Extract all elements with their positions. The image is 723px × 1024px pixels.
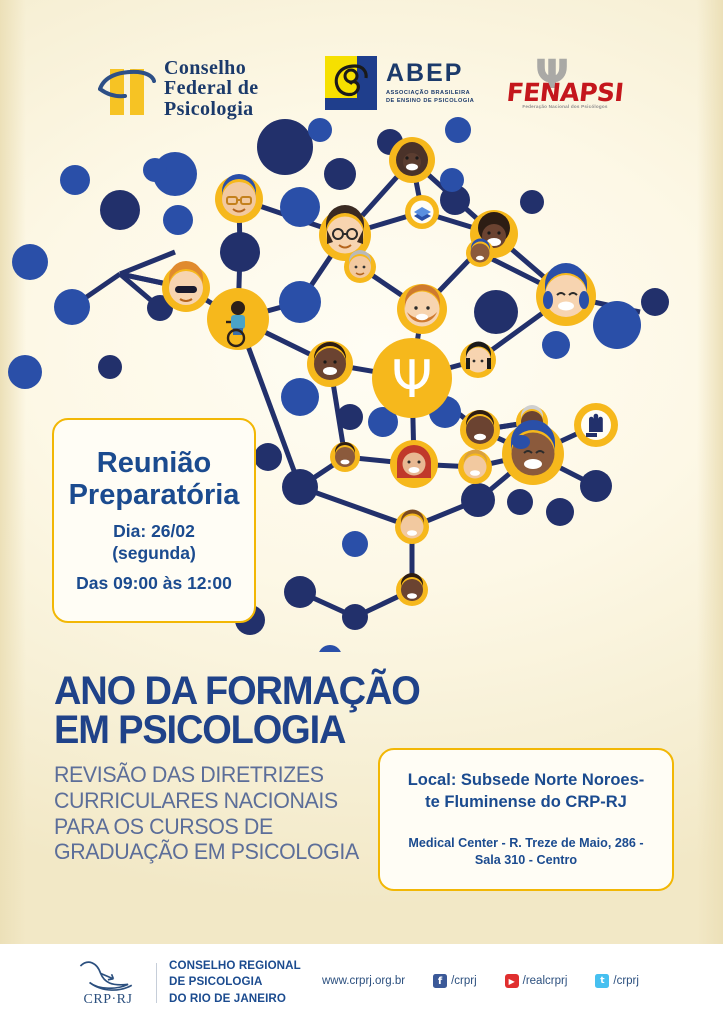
meeting-weekday: (segunda) bbox=[112, 542, 196, 564]
abep-sub-line-2: DE ENSINO DE PSICOLOGIA bbox=[386, 97, 474, 105]
facebook-link[interactable]: f /crprj bbox=[433, 974, 477, 988]
poster-root: Conselho Federal de Psicologia ABEP ASSO… bbox=[0, 0, 723, 1024]
location-address-line-2: Sala 310 - Centro bbox=[475, 852, 577, 869]
location-line-2: te Fluminense do CRP-RJ bbox=[425, 792, 627, 814]
twitter-icon: t bbox=[595, 974, 609, 988]
website-link[interactable]: www.crprj.org.br bbox=[322, 975, 405, 987]
meeting-title-line-2: Preparatória bbox=[69, 479, 240, 511]
crp-rj-logo-icon: CRP·RJ bbox=[68, 959, 146, 1007]
location-info-box: Local: Subsede Norte Noroes- te Fluminen… bbox=[378, 748, 674, 891]
crp-rj-wordmark: CRP·RJ bbox=[72, 992, 144, 1008]
youtube-icon: ▶ bbox=[505, 974, 519, 988]
crp-line-1: CONSELHO REGIONAL bbox=[169, 958, 301, 974]
crp-rj-text: CONSELHO REGIONAL DE PSICOLOGIA DO RIO D… bbox=[169, 958, 301, 1007]
fenapsi-subtitle: Federação Nacional dos Psicólogos bbox=[505, 104, 625, 109]
meeting-date: Dia: 26/02 bbox=[113, 520, 195, 542]
subtitle-line-1: REVISÃO DAS DIRETRIZES bbox=[54, 762, 368, 788]
subtitle-line-3: PARA OS CURSOS DE bbox=[54, 814, 368, 840]
headline-subtitle: REVISÃO DAS DIRETRIZES CURRICULARES NACI… bbox=[54, 762, 384, 865]
twitter-label: /crprj bbox=[613, 975, 639, 987]
youtube-label: /realcrprj bbox=[523, 975, 568, 987]
psi-symbol-label: Ψ bbox=[392, 350, 433, 410]
cfp-swoosh-icon bbox=[98, 69, 156, 99]
abep-sub-line-1: ASSOCIAÇÃO BRASILEIRA bbox=[386, 89, 474, 97]
crp-line-2: DE PSICOLOGIA bbox=[169, 974, 301, 990]
facebook-icon: f bbox=[433, 974, 447, 988]
fenapsi-logo: Ψ FENAPSI Federação Nacional dos Psicólo… bbox=[505, 54, 625, 116]
cfp-line-1: Conselho bbox=[164, 58, 259, 78]
footer-links: www.crprj.org.br f /crprj ▶ /realcrprj t… bbox=[322, 974, 639, 988]
abep-logo-text: ABEP ASSOCIAÇÃO BRASILEIRA DE ENSINO DE … bbox=[386, 61, 474, 106]
crp-rj-logo: CRP·RJ CONSELHO REGIONAL DE PSICOLOGIA D… bbox=[68, 958, 301, 1007]
meeting-time: Das 09:00 às 12:00 bbox=[76, 572, 232, 594]
twitter-link[interactable]: t /crprj bbox=[595, 974, 639, 988]
abep-logo: ABEP ASSOCIAÇÃO BRASILEIRA DE ENSINO DE … bbox=[325, 56, 474, 110]
facebook-label: /crprj bbox=[451, 975, 477, 987]
headline-line-1: ANO DA FORMAÇÃO bbox=[54, 672, 368, 711]
meeting-info-box: Reunião Preparatória Dia: 26/02 (segunda… bbox=[52, 418, 256, 623]
cfp-logo-icon bbox=[100, 63, 154, 115]
youtube-link[interactable]: ▶ /realcrprj bbox=[505, 974, 568, 988]
crp-line-3: DO RIO DE JANEIRO bbox=[169, 991, 301, 1007]
location-line-1: Local: Subsede Norte Noroes- bbox=[408, 770, 645, 792]
location-address-line-1: Medical Center - R. Treze de Maio, 286 - bbox=[408, 835, 643, 852]
cfp-logo: Conselho Federal de Psicologia bbox=[100, 58, 259, 119]
headline-line-2: EM PSICOLOGIA bbox=[54, 711, 368, 750]
subtitle-line-2: CURRICULARES NACIONAIS bbox=[54, 788, 368, 814]
meeting-title-line-1: Reunião bbox=[97, 447, 211, 479]
cfp-logo-text: Conselho Federal de Psicologia bbox=[164, 58, 259, 119]
abep-logo-icon bbox=[325, 56, 377, 110]
cfp-line-2: Federal de bbox=[164, 78, 259, 98]
abep-spiral-icon bbox=[325, 56, 377, 110]
website-label: www.crprj.org.br bbox=[322, 975, 405, 987]
headline-block: ANO DA FORMAÇÃO EM PSICOLOGIA REVISÃO DA… bbox=[54, 672, 384, 865]
subtitle-line-4: GRADUAÇÃO EM PSICOLOGIA bbox=[54, 839, 368, 865]
fenapsi-name: FENAPSI bbox=[503, 78, 626, 107]
footer-bar: CRP·RJ CONSELHO REGIONAL DE PSICOLOGIA D… bbox=[0, 944, 723, 1024]
footer-divider bbox=[156, 963, 157, 1003]
header-logo-bar: Conselho Federal de Psicologia ABEP ASSO… bbox=[0, 26, 723, 98]
abep-name: ABEP bbox=[386, 61, 474, 86]
